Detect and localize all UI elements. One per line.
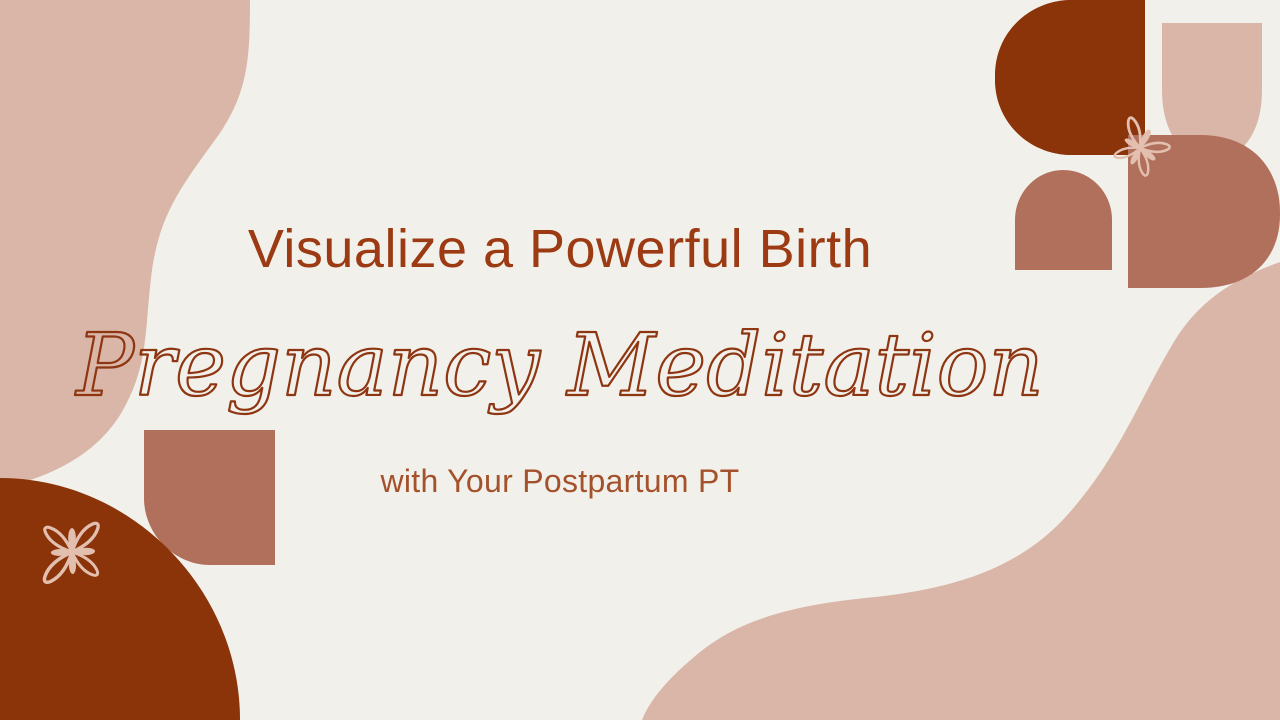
terracotta-arch-small (1015, 170, 1112, 270)
decorative-background (0, 0, 1280, 720)
dark-brown-dome-body (1072, 0, 1145, 155)
presentation-slide: Visualize a Powerful Birth Pregnancy Med… (0, 0, 1280, 720)
